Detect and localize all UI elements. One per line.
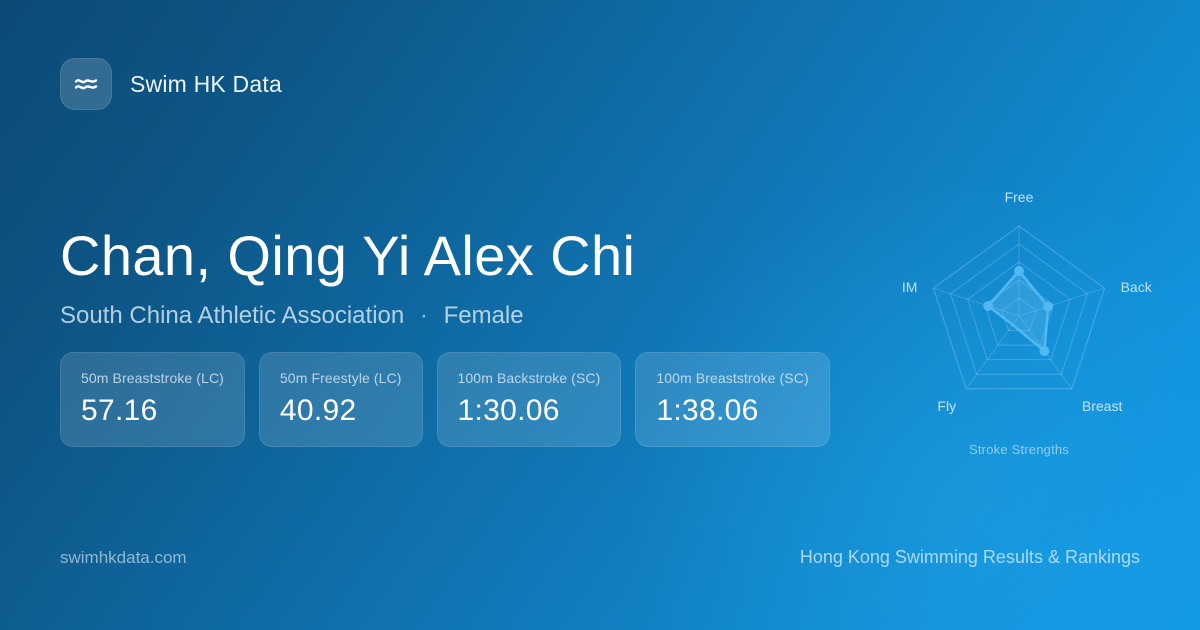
stat-value: 40.92 xyxy=(280,394,402,428)
stat-label: 50m Freestyle (LC) xyxy=(280,370,402,387)
radar-axis-label: Breast xyxy=(1082,398,1123,414)
stat-label: 50m Breaststroke (LC) xyxy=(81,370,224,387)
stroke-strengths-radar-chart: FreeBackBreastFlyIM Stroke Strengths xyxy=(869,170,1169,470)
stat-card: 100m Backstroke (SC) 1:30.06 xyxy=(437,352,622,447)
page-title: Chan, Qing Yi Alex Chi xyxy=(60,221,850,291)
stat-label: 100m Breaststroke (SC) xyxy=(656,370,808,387)
radar-axis-label: Fly xyxy=(937,398,956,414)
share-card: Swim HK Data Chan, Qing Yi Alex Chi Sout… xyxy=(0,0,1200,630)
radar-axis-label: Back xyxy=(1121,279,1153,295)
radar-data-point xyxy=(1039,346,1049,356)
stat-value: 1:30.06 xyxy=(458,394,601,428)
athlete-club: South China Athletic Association xyxy=(60,302,404,329)
brand-name: Swim HK Data xyxy=(130,71,282,98)
headline-block: Chan, Qing Yi Alex Chi South China Athle… xyxy=(60,221,850,331)
stat-card-list: 50m Breaststroke (LC) 57.16 50m Freestyl… xyxy=(60,352,830,447)
radar-axis-label: Free xyxy=(1005,189,1034,205)
radar-area xyxy=(988,271,1048,351)
brand-lockup: Swim HK Data xyxy=(60,58,282,110)
radar-spoke xyxy=(966,316,1019,389)
footer-site: swimhkdata.com xyxy=(60,548,187,568)
radar-data-point xyxy=(983,301,993,311)
stat-card: 100m Breaststroke (SC) 1:38.06 xyxy=(635,352,829,447)
stat-card: 50m Breaststroke (LC) 57.16 xyxy=(60,352,245,447)
athlete-gender: Female xyxy=(444,302,524,329)
wave-icon xyxy=(60,58,112,110)
meta-separator: · xyxy=(411,301,437,331)
stat-value: 1:38.06 xyxy=(656,394,808,428)
stat-value: 57.16 xyxy=(81,394,224,428)
athlete-meta: South China Athletic Association · Femal… xyxy=(60,301,850,331)
radar-data-point xyxy=(1014,266,1024,276)
stat-card: 50m Freestyle (LC) 40.92 xyxy=(259,352,423,447)
radar-data-point xyxy=(1043,302,1053,312)
footer-tagline: Hong Kong Swimming Results & Rankings xyxy=(800,547,1140,568)
radar-caption: Stroke Strengths xyxy=(869,442,1169,457)
stat-label: 100m Backstroke (SC) xyxy=(458,370,601,387)
radar-axis-label: IM xyxy=(902,279,918,295)
